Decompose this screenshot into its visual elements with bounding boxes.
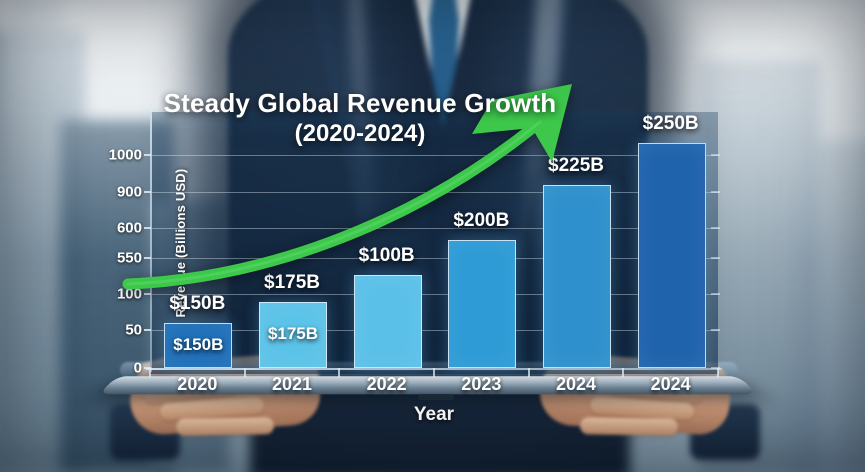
gridline	[152, 228, 718, 229]
y-axis-tick-label: 550	[117, 250, 142, 267]
x-axis-tick-mark	[528, 368, 530, 377]
bar-value-label: $200B	[453, 210, 509, 232]
y-axis-tick-label: 50	[125, 322, 142, 339]
y-axis-tick-label: 600	[117, 220, 142, 237]
x-axis-tick-mark	[244, 368, 246, 377]
y-axis-tick-label: 1000	[109, 147, 142, 164]
x-axis-tick-label: 2023	[461, 374, 501, 395]
y-axis-tick-mark-right	[711, 191, 720, 193]
bar-5[interactable]	[638, 143, 706, 368]
x-axis-title: Year	[150, 404, 718, 426]
y-axis-tick-mark-right	[711, 293, 720, 295]
gridline	[152, 294, 718, 295]
bar-value-label: $225B	[548, 155, 604, 177]
x-axis-tick-label: 2021	[272, 374, 312, 395]
screenshot-stage: Reveuue (Billions USD) Year 050100550600…	[0, 0, 865, 472]
bar-value-label: $100B	[359, 245, 415, 267]
gridline	[152, 258, 718, 259]
bar-4[interactable]	[543, 185, 611, 368]
y-axis-tick-label: 100	[117, 286, 142, 303]
y-axis-tick-mark	[144, 329, 151, 331]
bar-0[interactable]: $150B	[164, 323, 232, 368]
y-axis-tick-mark-right	[711, 227, 720, 229]
y-axis-tick-mark-right	[711, 257, 720, 259]
holographic-chart-panel: Reveuue (Billions USD) Year 050100550600…	[150, 112, 718, 374]
bar-3[interactable]	[448, 240, 516, 368]
chart-plot-area: Reveuue (Billions USD) Year 050100550600…	[150, 112, 718, 374]
y-axis-tick-mark-right	[711, 154, 720, 156]
tablet-home-button	[418, 394, 454, 400]
x-axis-tick-mark	[338, 368, 340, 377]
gridline	[152, 330, 718, 331]
y-axis-tick-label: 0	[134, 360, 142, 377]
y-axis-tick-mark	[144, 257, 151, 259]
y-axis-tick-mark	[144, 154, 151, 156]
chart-title: Steady Global Revenue Growth	[100, 88, 620, 119]
bar-value-label: $150B	[169, 293, 225, 315]
y-axis-tick-mark	[144, 191, 151, 193]
gridline	[152, 155, 718, 156]
y-axis-tick-mark	[144, 227, 151, 229]
x-axis-tick-label: 2022	[367, 374, 407, 395]
x-axis-tick-label: 2024	[556, 374, 596, 395]
bar-value-label: $175B	[264, 272, 320, 294]
bar-value-label: $250B	[643, 113, 699, 135]
x-axis-tick-mark	[433, 368, 435, 377]
x-axis-tick-mark	[149, 368, 151, 377]
x-axis-tick-mark	[622, 368, 624, 377]
bar-inside-label: $150B	[173, 335, 223, 355]
gridline	[152, 192, 718, 193]
y-axis-tick-mark	[144, 293, 151, 295]
bar-2[interactable]	[354, 275, 422, 368]
y-axis-tick-label: 900	[117, 184, 142, 201]
chart-subtitle: (2020-2024)	[100, 120, 620, 148]
x-axis-tick-mark	[717, 368, 719, 377]
x-axis-tick-label: 2024	[651, 374, 691, 395]
x-axis-tick-label: 2020	[177, 374, 217, 395]
bar-1[interactable]: $175B	[259, 302, 327, 368]
y-axis-tick-mark-right	[711, 329, 720, 331]
bar-inside-label: $175B	[268, 324, 318, 344]
